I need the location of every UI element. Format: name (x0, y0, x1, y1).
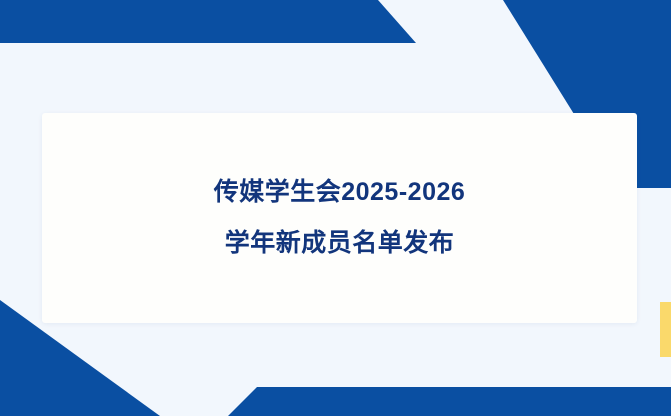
page-title: 传媒学生会2025-2026 学年新成员名单发布 (214, 180, 466, 256)
page-title-line-1: 传媒学生会2025-2026 (214, 180, 466, 205)
top-left-blue-band-decoration (0, 0, 416, 43)
slide-canvas: 传媒学生会2025-2026 学年新成员名单发布 (0, 0, 671, 416)
page-title-line-2: 学年新成员名单发布 (214, 231, 466, 256)
content-card: 传媒学生会2025-2026 学年新成员名单发布 (42, 113, 637, 323)
yellow-accent-bar-decoration (660, 302, 671, 357)
